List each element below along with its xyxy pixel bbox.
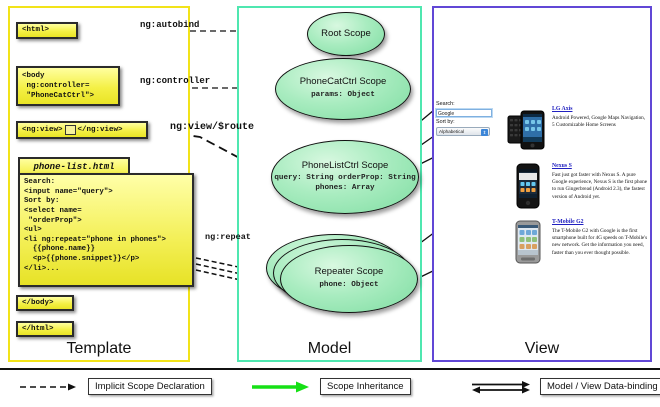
ngview-close-text: </ng:view> — [78, 125, 123, 135]
list-item: Nexus S Fast just got faster with Nexus … — [507, 163, 648, 211]
dashed-arrow-icon — [18, 380, 80, 394]
sort-select-value: Alphabetical — [439, 129, 464, 135]
scope-phonecatctrl: PhoneCatCtrl Scope params: Object — [275, 58, 411, 120]
template-file-code: Search: <input name="query"> Sort by: <s… — [18, 173, 194, 287]
code-tag-html-close: </html> — [16, 321, 74, 337]
column-label-template: Template — [10, 340, 188, 358]
search-input[interactable]: Google — [436, 109, 492, 117]
edge-label-ng-repeat: ng:repeat — [205, 232, 251, 242]
code-tag-html-open: <html> — [16, 22, 78, 39]
list-item: LG Axis Android Powered, Google Maps Nav… — [507, 106, 648, 154]
scope-repeater-props: phone: Object — [319, 281, 378, 290]
ngview-open-text: <ng:view> — [22, 125, 63, 135]
legend-label-inheritance: Scope Inheritance — [320, 378, 411, 395]
chevron-updown-icon: ⇕ — [481, 129, 488, 136]
phone-name-link[interactable]: Nexus S — [552, 163, 648, 169]
legend-label-implicit: Implicit Scope Declaration — [88, 378, 212, 395]
diagram-root: Template <html> <body ng:controller= "Ph… — [0, 0, 660, 405]
scope-root: Root Scope — [307, 12, 385, 56]
phone-info: T-Mobile G2 The T-Mobile G2 with Google … — [552, 219, 648, 267]
search-label: Search: — [436, 101, 492, 108]
column-label-view: View — [434, 340, 650, 358]
phone-thumbnail-lg-axis — [507, 106, 545, 154]
column-label-model: Model — [239, 340, 420, 358]
legend-label-databinding: Model / View Data-binding — [540, 378, 660, 395]
phone-description: Fast just got faster with Nexus S. A pur… — [552, 172, 648, 201]
code-tag-body-close: </body> — [16, 295, 74, 311]
phone-name-link[interactable]: LG Axis — [552, 106, 648, 112]
phone-thumbnail-nexus-s — [507, 163, 545, 211]
legend: Implicit Scope Declaration Scope Inherit… — [0, 368, 660, 407]
double-arrow-icon — [470, 380, 532, 394]
scope-repeater-name: Repeater Scope — [315, 267, 384, 278]
template-file-card: phone-list.html Search: <input name="que… — [18, 157, 194, 287]
scope-phonecatctrl-name: PhoneCatCtrl Scope — [300, 77, 387, 88]
legend-item-databinding: Model / View Data-binding — [470, 378, 660, 395]
sort-label: Sort by: — [436, 119, 492, 126]
edge-label-ng-controller: ng:controller — [140, 76, 210, 86]
legend-item-inheritance: Scope Inheritance — [250, 378, 411, 395]
scope-phonecatctrl-props: params: Object — [311, 91, 375, 100]
edge-label-ng-view-route: ng:view/$route — [170, 122, 254, 133]
phone-description: Android Powered, Google Maps Navigation,… — [552, 115, 648, 129]
phone-thumbnail-tmobile-g2 — [507, 219, 545, 267]
phone-info: Nexus S Fast just got faster with Nexus … — [552, 163, 648, 211]
code-tag-body-open: <body ng:controller= "PhoneCatCtrl"> — [16, 66, 120, 106]
scope-root-name: Root Scope — [321, 29, 371, 40]
scope-phonelistctrl-props: query: String orderProp: String phones: … — [272, 174, 418, 193]
legend-item-implicit: Implicit Scope Declaration — [18, 378, 212, 395]
scope-phonelistctrl-name: PhoneListCtrl Scope — [302, 161, 389, 172]
phone-name-link[interactable]: T-Mobile G2 — [552, 219, 648, 225]
sort-select[interactable]: Alphabetical ⇕ — [436, 127, 490, 136]
green-arrow-icon — [250, 380, 312, 394]
edge-label-ng-autobind: ng:autobind — [140, 20, 199, 30]
scope-phonelistctrl: PhoneListCtrl Scope query: String orderP… — [271, 140, 419, 214]
ngview-slot-icon — [65, 125, 76, 135]
view-search-form: Search: Google Sort by: Alphabetical ⇕ — [436, 101, 492, 136]
list-item: T-Mobile G2 The T-Mobile G2 with Google … — [507, 219, 648, 267]
scope-repeater: Repeater Scope phone: Object — [280, 245, 418, 313]
phone-description: The T-Mobile G2 with Google is the first… — [552, 228, 648, 257]
code-tag-ngview: <ng:view></ng:view> — [16, 121, 148, 139]
phone-info: LG Axis Android Powered, Google Maps Nav… — [552, 106, 648, 154]
